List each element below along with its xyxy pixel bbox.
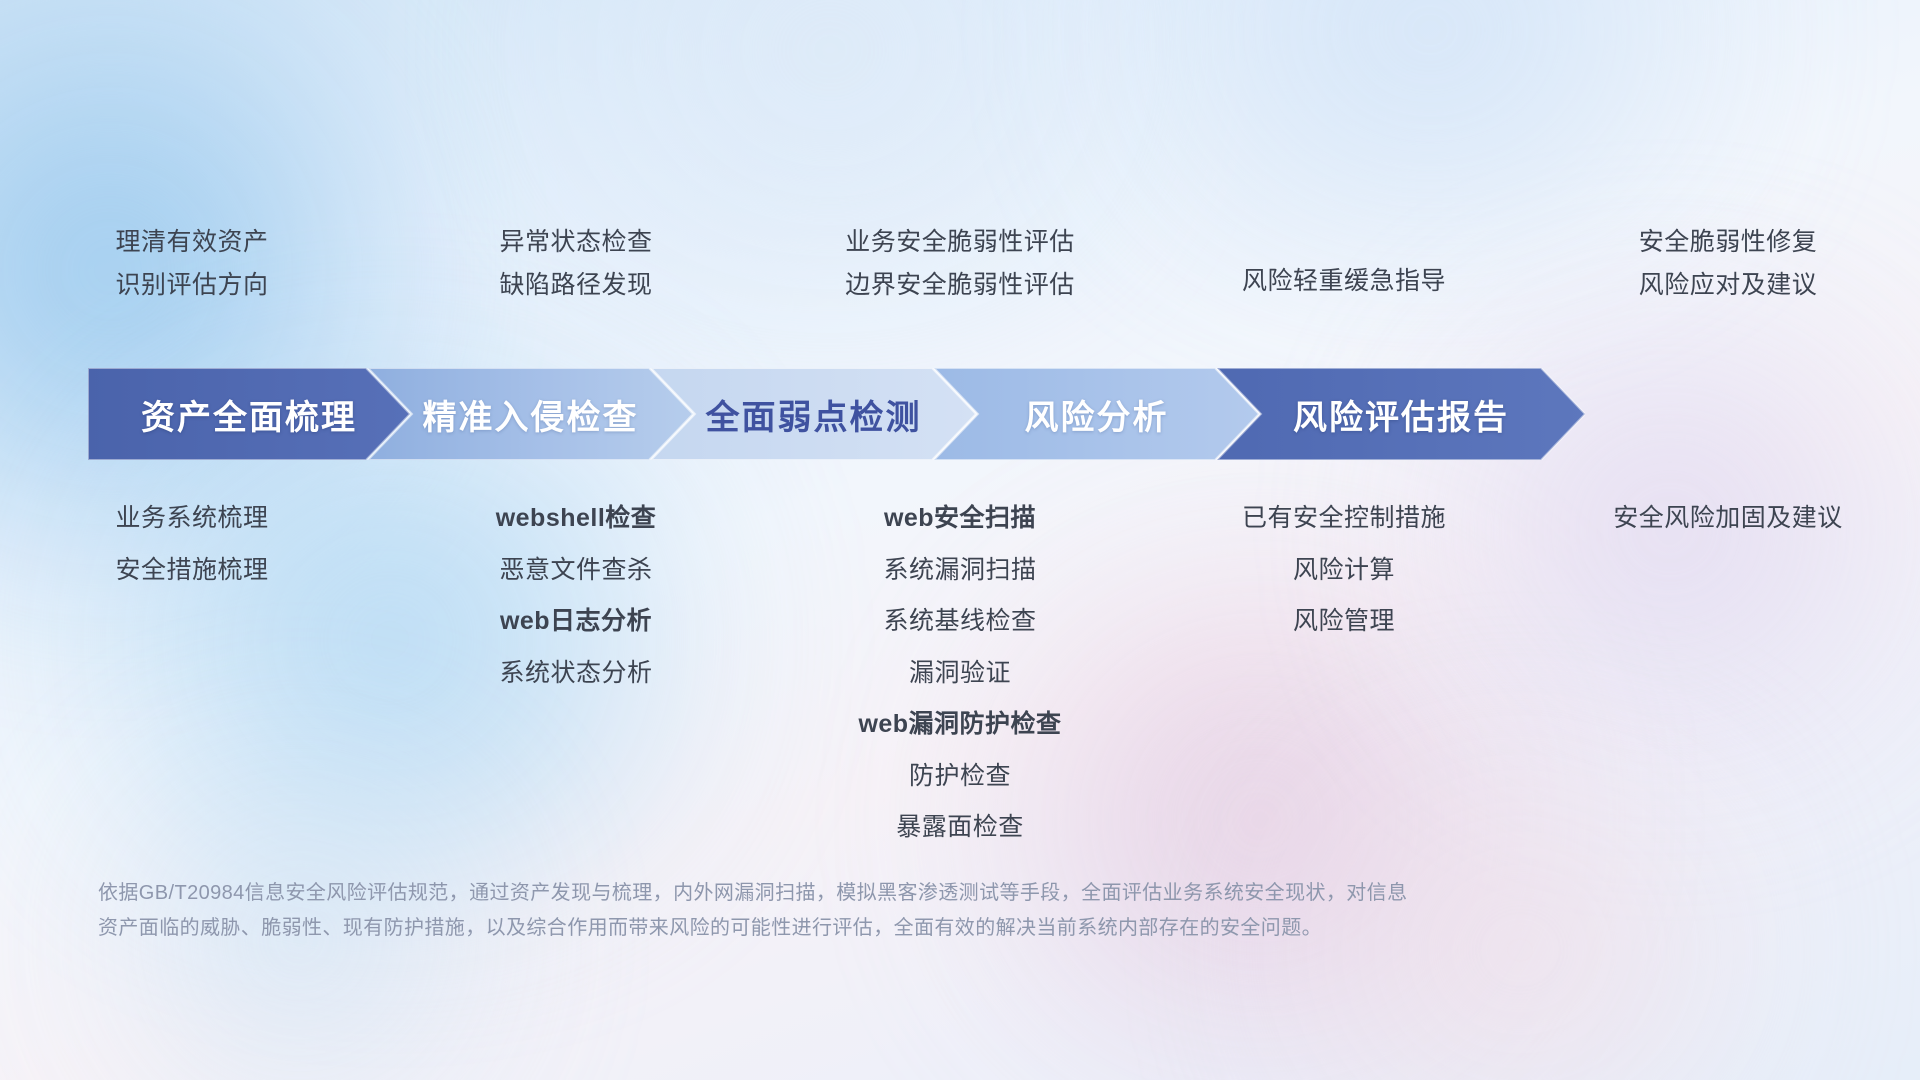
list-item: 安全风险加固及建议 [1613, 505, 1843, 533]
top-note: 业务安全脆弱性评估 [845, 228, 1075, 257]
top-note: 识别评估方向 [115, 271, 268, 300]
list-item: webshell检查 [496, 505, 657, 533]
chevron-label: 精准入侵检查 [423, 390, 639, 439]
list-item: 系统基线检查 [883, 608, 1036, 636]
chevron-label: 资产全面梳理 [141, 390, 357, 439]
chevron-stage-3[interactable]: 全面弱点检测 [651, 368, 976, 460]
top-notes-stage-5: 安全脆弱性修复 风险应对及建议 [1536, 228, 1920, 338]
top-note: 边界安全脆弱性评估 [845, 271, 1075, 300]
list-item: 系统状态分析 [499, 660, 652, 688]
list-item: 已有安全控制措施 [1242, 505, 1446, 533]
top-notes-stage-3: 业务安全脆弱性评估 边界安全脆弱性评估 [768, 228, 1152, 338]
list-item: web安全扫描 [884, 505, 1036, 533]
top-notes-stage-1: 理清有效资产 识别评估方向 [0, 228, 384, 338]
chevron-stage-1[interactable]: 资产全面梳理 [88, 368, 410, 460]
chevron-label: 风险评估报告 [1293, 390, 1509, 439]
list-item: 暴露面检查 [896, 814, 1024, 842]
list-item: 安全措施梳理 [115, 557, 268, 585]
list-item: 风险管理 [1293, 608, 1395, 636]
chevron-label: 风险分析 [1025, 390, 1169, 439]
detail-list-stage-5: 安全风险加固及建议 [1536, 505, 1920, 533]
top-notes-stage-2: 异常状态检查 缺陷路径发现 [384, 228, 768, 338]
chevron-stage-5[interactable]: 风险评估报告 [1217, 368, 1585, 460]
top-note: 理清有效资产 [115, 228, 268, 257]
process-diagram: 理清有效资产 识别评估方向 异常状态检查 缺陷路径发现 业务安全脆弱性评估 边界… [0, 0, 1920, 1080]
footer-line: 资产面临的威胁、脆弱性、现有防护措施，以及综合作用而带来风险的可能性进行评估，全… [98, 911, 1638, 946]
footer-description: 依据GB/T20984信息安全风险评估规范，通过资产发现与梳理，内外网漏洞扫描，… [98, 876, 1638, 946]
list-item: 风险计算 [1293, 557, 1395, 585]
chevron-stage-4[interactable]: 风险分析 [934, 368, 1259, 460]
top-note: 风险应对及建议 [1639, 271, 1818, 300]
detail-list-stage-4: 已有安全控制措施 风险计算 风险管理 [1152, 505, 1536, 636]
top-notes-stage-4: 风险轻重缓急指导 [1152, 228, 1536, 338]
footer-line: 依据GB/T20984信息安全风险评估规范，通过资产发现与梳理，内外网漏洞扫描，… [98, 876, 1638, 911]
detail-list-stage-1: 业务系统梳理 安全措施梳理 [0, 505, 384, 584]
detail-list-stage-2: webshell检查 恶意文件查杀 web日志分析 系统状态分析 [384, 505, 768, 687]
stage-detail-lists-row: 业务系统梳理 安全措施梳理 webshell检查 恶意文件查杀 web日志分析 … [0, 505, 1920, 842]
list-item: web日志分析 [500, 608, 652, 636]
chevron-label: 全面弱点检测 [706, 390, 922, 439]
list-item: web漏洞防护检查 [858, 711, 1061, 739]
top-note: 安全脆弱性修复 [1639, 228, 1818, 257]
stage-chevron-band: 资产全面梳理 精准入侵检查 全面弱点检测 [88, 368, 1856, 460]
top-note: 缺陷路径发现 [499, 271, 652, 300]
list-item: 系统漏洞扫描 [883, 557, 1036, 585]
list-item: 恶意文件查杀 [499, 557, 652, 585]
list-item: 防护检查 [909, 763, 1011, 791]
chevron-stage-2[interactable]: 精准入侵检查 [368, 368, 693, 460]
top-note: 异常状态检查 [499, 228, 652, 257]
top-note: 风险轻重缓急指导 [1242, 267, 1446, 296]
detail-list-stage-3: web安全扫描 系统漏洞扫描 系统基线检查 漏洞验证 web漏洞防护检查 防护检… [768, 505, 1152, 842]
list-item: 漏洞验证 [909, 660, 1011, 688]
stage-top-notes-row: 理清有效资产 识别评估方向 异常状态检查 缺陷路径发现 业务安全脆弱性评估 边界… [0, 228, 1920, 338]
list-item: 业务系统梳理 [115, 505, 268, 533]
